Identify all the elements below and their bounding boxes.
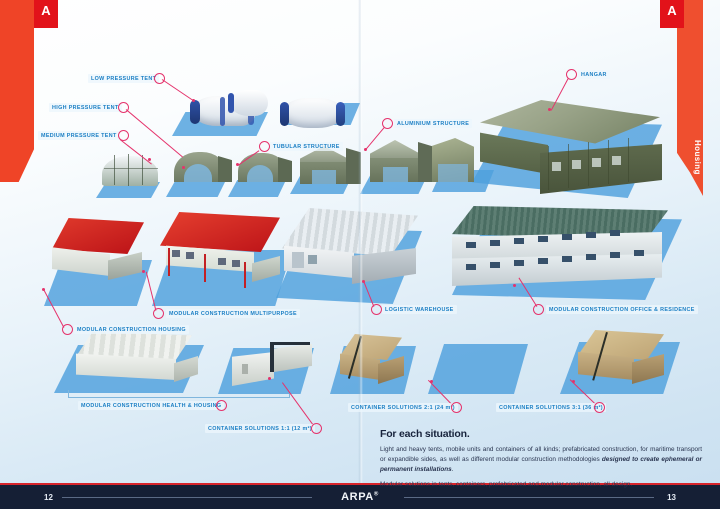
left-red-flap bbox=[0, 0, 34, 182]
callout-label-medium-pressure-tent: MEDIUM PRESSURE TENT bbox=[38, 131, 120, 140]
ground-shadow bbox=[428, 344, 528, 394]
red-roof bbox=[160, 212, 280, 252]
tubular-structure-model bbox=[238, 150, 294, 186]
callout-label-logistic-warehouse: LOGISTIC WAREHOUSE bbox=[382, 305, 457, 314]
callout-tip-aluminium-structure bbox=[364, 148, 367, 151]
callout-label-aluminium-structure: ALUMINIUM STRUCTURE bbox=[394, 119, 472, 128]
low-pressure-tent-model bbox=[278, 96, 350, 130]
callout-tip-high-pressure-tent bbox=[182, 166, 185, 169]
callout-tip-logistic-warehouse bbox=[362, 280, 365, 283]
callout-label-container-1-1: CONTAINER SOLUTIONS 1:1 (12 m²) bbox=[205, 424, 315, 433]
callout-label-modular-office: MODULAR CONSTRUCTION OFFICE & RESIDENCE bbox=[546, 305, 698, 314]
aluminium-structure-model bbox=[370, 140, 436, 184]
low-pressure-tent-model bbox=[186, 92, 268, 128]
page-number-left: 12 bbox=[44, 493, 53, 502]
description-paragraph-1: Light and heavy tents, mobile units and … bbox=[380, 445, 702, 475]
callout-dot-modular-multipurpose[interactable] bbox=[153, 308, 164, 319]
callout-dot-container-2-1[interactable] bbox=[451, 402, 462, 413]
callout-label-container-3-1: CONTAINER SOLUTIONS 3:1 (36 m²) bbox=[496, 403, 606, 412]
callout-label-low-pressure-tent: LOW PRESSURE TENT bbox=[88, 74, 159, 83]
callout-tip-modular-multipurpose bbox=[142, 270, 145, 273]
callout-tip-low-pressure-tent bbox=[192, 99, 195, 102]
modular-health-housing-model bbox=[76, 332, 202, 390]
page-spine bbox=[358, 0, 363, 486]
callout-dot-modular-health-housing[interactable] bbox=[216, 400, 227, 411]
callout-tip-medium-pressure-tent bbox=[148, 158, 151, 161]
callout-tip-container-1-1 bbox=[268, 377, 271, 380]
callout-dot-modular-housing[interactable] bbox=[62, 324, 73, 335]
callout-tip-container-2-1 bbox=[430, 380, 433, 383]
callout-dot-container-3-1[interactable] bbox=[594, 402, 605, 413]
callout-dot-medium-pressure-tent[interactable] bbox=[118, 130, 129, 141]
callout-dot-tubular-structure[interactable] bbox=[259, 141, 270, 152]
callout-tip-tubular-structure bbox=[236, 163, 239, 166]
callout-dot-high-pressure-tent[interactable] bbox=[118, 102, 129, 113]
brand-mark: ® bbox=[374, 491, 379, 497]
logo-badge-right: A bbox=[660, 0, 684, 28]
brand-name: ARPA bbox=[341, 491, 374, 503]
description-paragraph-2: Modular solutions in tents, containers, … bbox=[380, 480, 702, 490]
callout-label-tubular-structure: TUBULAR STRUCTURE bbox=[270, 142, 343, 151]
callout-dot-hangar[interactable] bbox=[566, 69, 577, 80]
callout-label-modular-housing: MODULAR CONSTRUCTION HOUSING bbox=[74, 325, 189, 334]
container-2-1-model bbox=[340, 334, 420, 390]
modular-housing-model bbox=[52, 218, 152, 282]
callout-tip-container-3-1 bbox=[572, 380, 575, 383]
callout-label-modular-health-housing: MODULAR CONSTRUCTION HEALTH & HOUSING bbox=[78, 401, 224, 410]
brand-wordmark: ARPA® bbox=[341, 491, 379, 503]
modular-multipurpose-model bbox=[160, 212, 286, 286]
callout-dot-container-1-1[interactable] bbox=[311, 423, 322, 434]
modular-office-residence-model bbox=[452, 206, 674, 296]
callout-tip-modular-housing bbox=[42, 288, 45, 291]
medium-pressure-tent-model bbox=[100, 152, 164, 188]
description-heading: For each situation. bbox=[380, 428, 702, 440]
callout-dot-aluminium-structure[interactable] bbox=[382, 118, 393, 129]
callout-tip-modular-office bbox=[513, 284, 516, 287]
callout-dot-logistic-warehouse[interactable] bbox=[371, 304, 382, 315]
footer-rule-left bbox=[62, 497, 312, 498]
callout-tip-hangar bbox=[548, 108, 551, 111]
callout-label-container-2-1: CONTAINER SOLUTIONS 2:1 (24 m²) bbox=[348, 403, 458, 412]
callout-dot-low-pressure-tent[interactable] bbox=[154, 73, 165, 84]
callout-label-high-pressure-tent: HIGH PRESSURE TENT bbox=[49, 103, 122, 112]
group-bracket bbox=[68, 390, 290, 398]
description-block: For each situation. Light and heavy tent… bbox=[380, 428, 702, 495]
callout-label-modular-multipurpose: MODULAR CONSTRUCTION MULTIPURPOSE bbox=[166, 309, 300, 318]
logo-letter: A bbox=[41, 4, 50, 17]
section-tab-label: Housing bbox=[693, 140, 702, 175]
aluminium-structure-model bbox=[300, 146, 362, 186]
red-roof bbox=[52, 218, 144, 254]
callout-label-hangar: HANGAR bbox=[578, 70, 610, 79]
callout-leader-low-pressure-tent bbox=[162, 79, 194, 101]
hangar-model bbox=[480, 100, 670, 200]
logo-letter: A bbox=[667, 4, 676, 17]
catalog-spread: Housing A A bbox=[0, 0, 720, 509]
container-3-1-model bbox=[578, 330, 682, 392]
footer-rule-right bbox=[404, 497, 654, 498]
aluminium-structure-model bbox=[432, 138, 486, 184]
container-1-1-model bbox=[232, 340, 318, 390]
callout-dot-modular-office[interactable] bbox=[533, 304, 544, 315]
paragraph-1-text-b: . bbox=[452, 466, 454, 473]
logo-badge-left: A bbox=[34, 0, 58, 28]
logistic-warehouse-model bbox=[282, 208, 424, 290]
